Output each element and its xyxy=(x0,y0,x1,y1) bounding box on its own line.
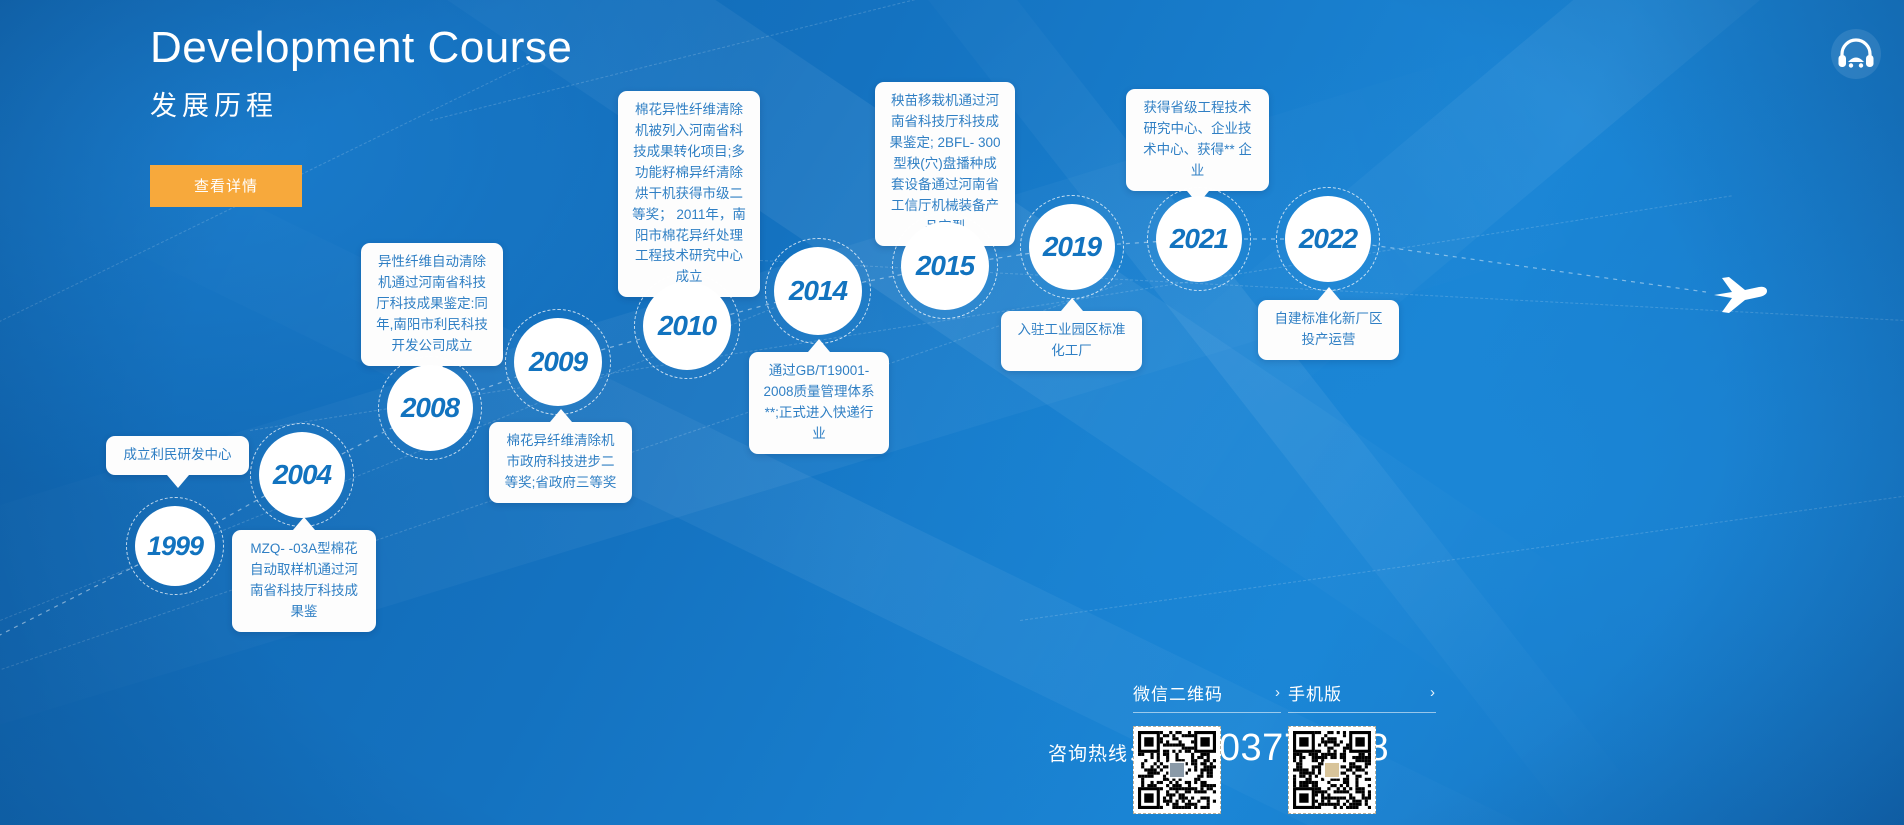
timeline-card-text-2014: 通过GB/T19001-2008质量管理体系**;正式进入快递行业 xyxy=(761,361,877,445)
card-pointer-2004 xyxy=(293,517,315,530)
timeline-year-2009[interactable]: 2009 xyxy=(514,318,602,406)
timeline-year-label-2004: 2004 xyxy=(273,459,331,491)
timeline-year-2010[interactable]: 2010 xyxy=(643,282,731,370)
qr-panel-label-1: 微信二维码 xyxy=(1133,680,1223,705)
chevron-right-icon: › xyxy=(1275,684,1281,701)
timeline-year-2021[interactable]: 2021 xyxy=(1156,196,1242,282)
timeline-year-2004[interactable]: 2004 xyxy=(259,432,345,518)
page-header: Development Course 发展历程 查看详情 xyxy=(150,22,572,207)
card-pointer-2022 xyxy=(1318,287,1340,300)
timeline-card-2022[interactable]: 自建标准化新厂区投产运营 xyxy=(1258,300,1399,360)
chevron-right-icon: › xyxy=(1430,684,1436,701)
timeline-year-label-2010: 2010 xyxy=(658,310,716,342)
timeline-year-2008[interactable]: 2008 xyxy=(387,365,473,451)
qr-panel-2: 手机版› xyxy=(1288,680,1436,814)
timeline-year-label-2015: 2015 xyxy=(916,250,974,282)
timeline-card-2009[interactable]: 棉花异纤维清除机市政府科技进步二等奖;省政府三等奖 xyxy=(489,422,632,503)
timeline-card-text-2019: 入驻工业园区标准化工厂 xyxy=(1013,320,1130,362)
timeline-card-text-2010: 棉花异性纤维清除机被列入河南省科技成果转化项目;多功能籽棉异纤清除烘干机获得市级… xyxy=(630,100,748,288)
timeline-year-label-2014: 2014 xyxy=(789,275,847,307)
timeline-card-text-2004: MZQ- -03A型棉花自动取样机通过河南省科技厅科技成果鉴 xyxy=(244,539,364,623)
qr-panel-header-2[interactable]: 手机版› xyxy=(1288,680,1436,713)
timeline-year-2022[interactable]: 2022 xyxy=(1285,196,1371,282)
timeline-card-text-2008: 异性纤维自动清除机通过河南省科技厅科技成果鉴定:同年,南阳市利民科技开发公司成立 xyxy=(373,252,491,357)
qr-panel-1: 微信二维码› xyxy=(1133,680,1281,814)
timeline-card-2004[interactable]: MZQ- -03A型棉花自动取样机通过河南省科技厅科技成果鉴 xyxy=(232,530,376,632)
airplane-icon xyxy=(1712,270,1768,321)
timeline-card-1999[interactable]: 成立利民研发中心 xyxy=(106,436,249,475)
timeline-year-label-1999: 1999 xyxy=(147,531,203,562)
card-pointer-1999 xyxy=(167,475,189,488)
timeline-year-label-2019: 2019 xyxy=(1043,231,1101,263)
timeline-card-text-2015: 秧苗移栽机通过河南省科技厅科技成果鉴定; 2BFL- 300型秧(穴)盘播种成套… xyxy=(887,91,1003,237)
timeline-card-text-2021: 获得省级工程技术研究中心、企业技术中心、获得** 企业 xyxy=(1138,98,1257,182)
timeline-year-label-2008: 2008 xyxy=(401,392,459,424)
card-pointer-2014 xyxy=(808,339,830,352)
page-title-english: Development Course xyxy=(150,22,572,74)
qr-panel-label-2: 手机版 xyxy=(1288,680,1342,705)
customer-service-headset-icon[interactable] xyxy=(1830,28,1882,80)
timeline-card-2021[interactable]: 获得省级工程技术研究中心、企业技术中心、获得** 企业 xyxy=(1126,89,1269,191)
card-pointer-2019 xyxy=(1061,298,1083,311)
card-pointer-2009 xyxy=(550,409,572,422)
timeline-card-2014[interactable]: 通过GB/T19001-2008质量管理体系**;正式进入快递行业 xyxy=(749,352,889,454)
qr-panel-header-1[interactable]: 微信二维码› xyxy=(1133,680,1281,713)
qr-code-image-1 xyxy=(1133,726,1221,814)
timeline-card-2008[interactable]: 异性纤维自动清除机通过河南省科技厅科技成果鉴定:同年,南阳市利民科技开发公司成立 xyxy=(361,243,503,366)
timeline-card-text-2022: 自建标准化新厂区投产运营 xyxy=(1270,309,1387,351)
qr-code-image-2 xyxy=(1288,726,1376,814)
timeline-card-2010[interactable]: 棉花异性纤维清除机被列入河南省科技成果转化项目;多功能籽棉异纤清除烘干机获得市级… xyxy=(618,91,760,297)
timeline-card-2019[interactable]: 入驻工业园区标准化工厂 xyxy=(1001,311,1142,371)
timeline-card-text-2009: 棉花异纤维清除机市政府科技进步二等奖;省政府三等奖 xyxy=(501,431,620,494)
timeline-year-2019[interactable]: 2019 xyxy=(1029,204,1115,290)
timeline-year-1999[interactable]: 1999 xyxy=(135,506,215,586)
timeline-year-label-2022: 2022 xyxy=(1299,223,1357,255)
timeline-year-label-2009: 2009 xyxy=(529,346,587,378)
timeline-year-label-2021: 2021 xyxy=(1170,223,1228,255)
page-title-chinese: 发展历程 xyxy=(150,84,572,123)
timeline-year-2015[interactable]: 2015 xyxy=(901,222,989,310)
view-details-button[interactable]: 查看详情 xyxy=(150,165,302,207)
timeline-card-text-1999: 成立利民研发中心 xyxy=(118,445,237,466)
timeline-year-2014[interactable]: 2014 xyxy=(774,247,862,335)
